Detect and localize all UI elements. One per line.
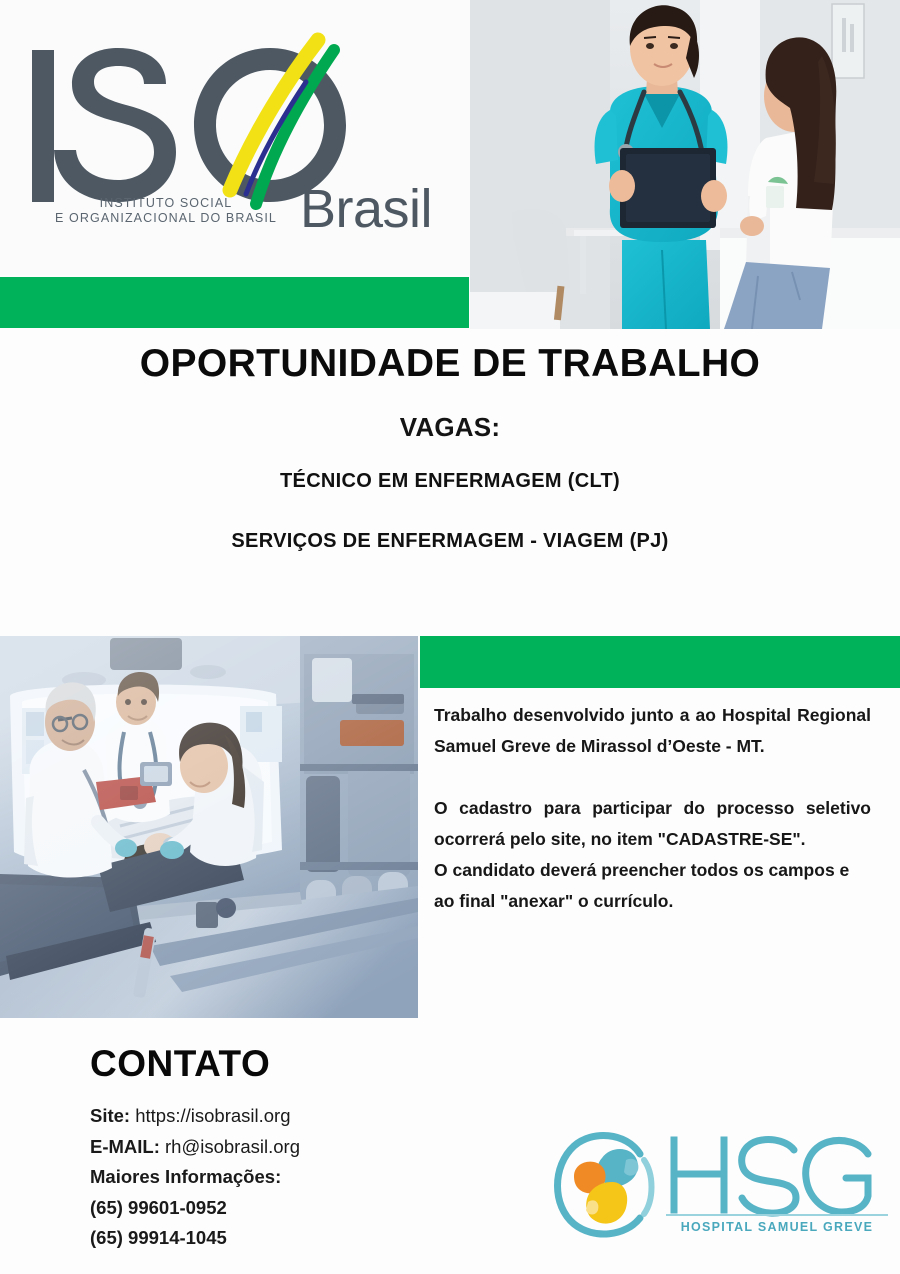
contact-heading: CONTATO — [90, 1043, 270, 1085]
description-paragraph-1: Trabalho desenvolvido junto a ao Hospita… — [434, 700, 871, 762]
site-label: Site: — [90, 1105, 130, 1126]
nurse-with-patient-photo — [470, 0, 900, 329]
ambulance-photo-graphic — [0, 636, 418, 1018]
vagas-label: VAGAS: — [0, 412, 900, 443]
iso-tagline: INSTITUTO SOCIAL E ORGANIZACIONAL DO BRA… — [16, 196, 316, 226]
paragraph-spacer — [434, 762, 871, 793]
hospital-samuel-greve-logo: HOSPITAL SAMUEL GREVE — [548, 1124, 888, 1252]
site-value[interactable]: https://isobrasil.org — [135, 1105, 290, 1126]
contact-details: Site: https://isobrasil.org E-MAIL: rh@i… — [90, 1101, 300, 1254]
green-accent-bar-middle — [420, 636, 900, 688]
description-paragraph-3: O candidato deverá preencher todos os ca… — [434, 855, 871, 917]
email-value[interactable]: rh@isobrasil.org — [165, 1136, 300, 1157]
vaga-item-1: TÉCNICO EM ENFERMAGEM (CLT) — [0, 470, 900, 493]
email-label: E-MAIL: — [90, 1136, 160, 1157]
contact-site-row: Site: https://isobrasil.org — [90, 1101, 300, 1132]
more-info-label: Maiores Informações: — [90, 1162, 300, 1193]
contact-phone-2: (65) 99914-1045 — [90, 1223, 300, 1254]
contact-email-row: E-MAIL: rh@isobrasil.org — [90, 1132, 300, 1163]
job-description-text: Trabalho desenvolvido junto a ao Hospita… — [434, 700, 871, 917]
iso-tagline-line-2: E ORGANIZACIONAL DO BRASIL — [16, 211, 316, 226]
iso-logo-panel: Brasil INSTITUTO SOCIAL E ORGANIZACIONAL… — [0, 0, 470, 275]
description-paragraph-2: O cadastro para participar do processo s… — [434, 793, 871, 855]
ambulance-paramedics-photo — [0, 636, 418, 1018]
iso-tagline-line-1: INSTITUTO SOCIAL — [16, 196, 316, 211]
nurse-photo-graphic — [470, 0, 900, 329]
contact-phone-1: (65) 99601-0952 — [90, 1193, 300, 1224]
iso-brasil-wordmark: Brasil — [300, 178, 432, 240]
page-title: OPORTUNIDADE DE TRABALHO — [0, 342, 900, 386]
hospital-name-subtitle: HOSPITAL SAMUEL GREVE — [666, 1220, 888, 1234]
job-posting-poster: Brasil INSTITUTO SOCIAL E ORGANIZACIONAL… — [0, 0, 900, 1274]
vaga-item-2: SERVIÇOS DE ENFERMAGEM - VIAGEM (PJ) — [0, 530, 900, 553]
green-accent-bar-top — [0, 277, 469, 328]
